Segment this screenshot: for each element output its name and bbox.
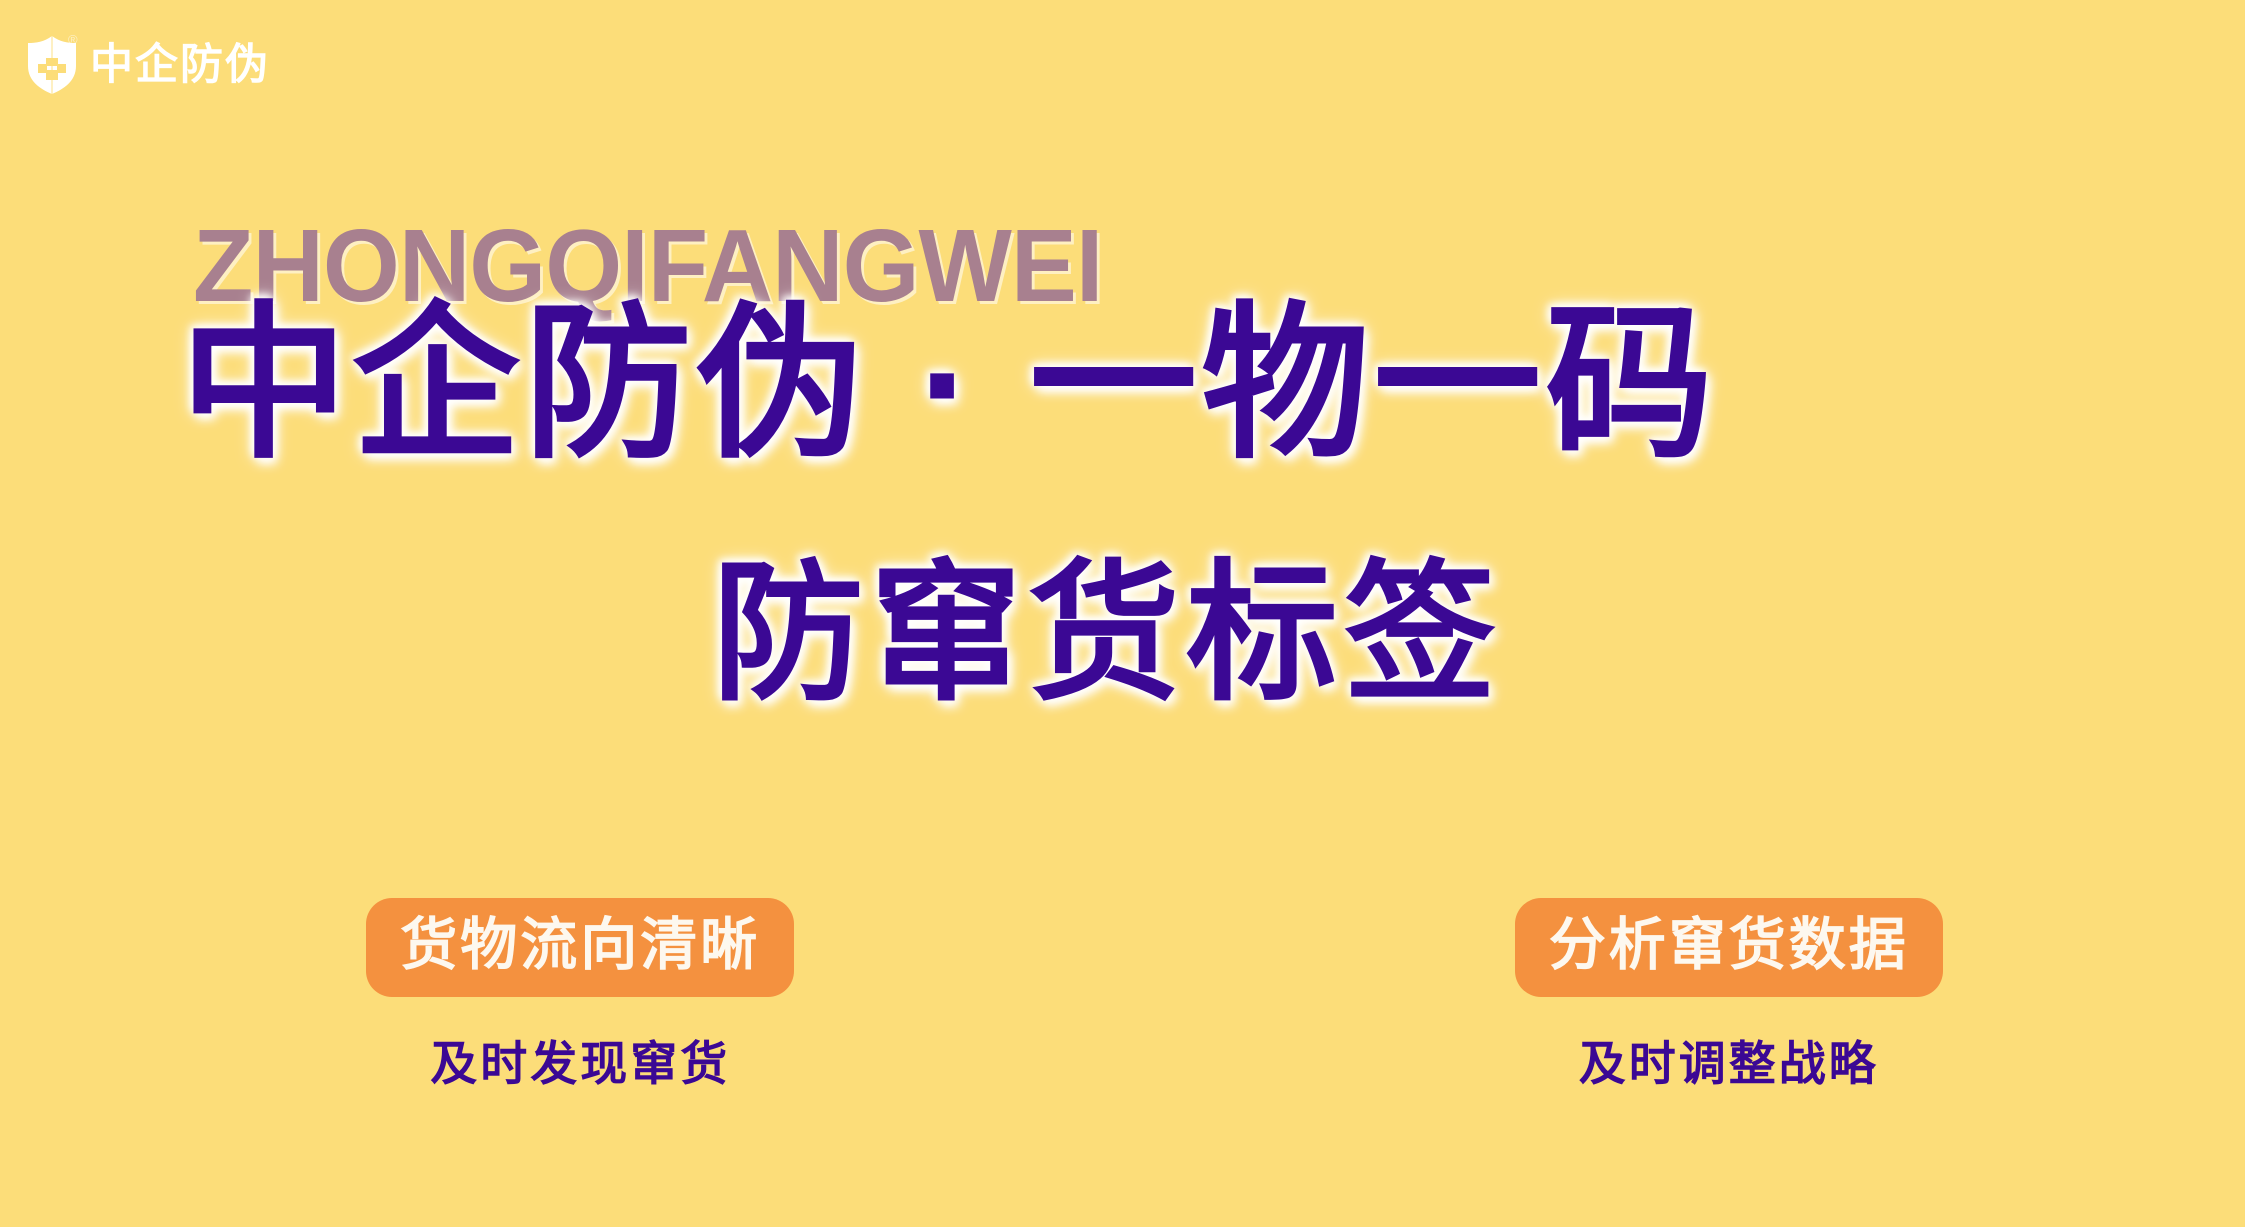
feature-caption: 及时调整战略 (1579, 1040, 1879, 1087)
feature-row: 货物流向清晰 及时发现窜货 分析窜货数据 及时调整战略 (0, 898, 2245, 1087)
feature-caption: 及时发现窜货 (430, 1040, 730, 1087)
brand-text-wrap: ® 中企防伪 (90, 44, 270, 87)
feature-column: 货物流向清晰 及时发现窜货 (0, 898, 1123, 1087)
brand-name: 中企防伪 (90, 41, 270, 89)
headline-secondary: 防窜货标签 (712, 558, 1502, 710)
registered-mark: ® (68, 32, 78, 47)
feature-column: 分析窜货数据 及时调整战略 (1123, 898, 2245, 1087)
brand-logo[interactable]: ® 中企防伪 (28, 36, 270, 94)
feature-pill[interactable]: 货物流向清晰 (366, 898, 794, 997)
feature-pill[interactable]: 分析窜货数据 (1515, 898, 1943, 997)
poster-canvas: ® 中企防伪 ZHONGQIFANGWEI 中企防伪 · 一物一码 防窜货标签 … (0, 0, 2245, 1227)
headline-primary: 中企防伪 · 一物一码 (180, 300, 1717, 468)
